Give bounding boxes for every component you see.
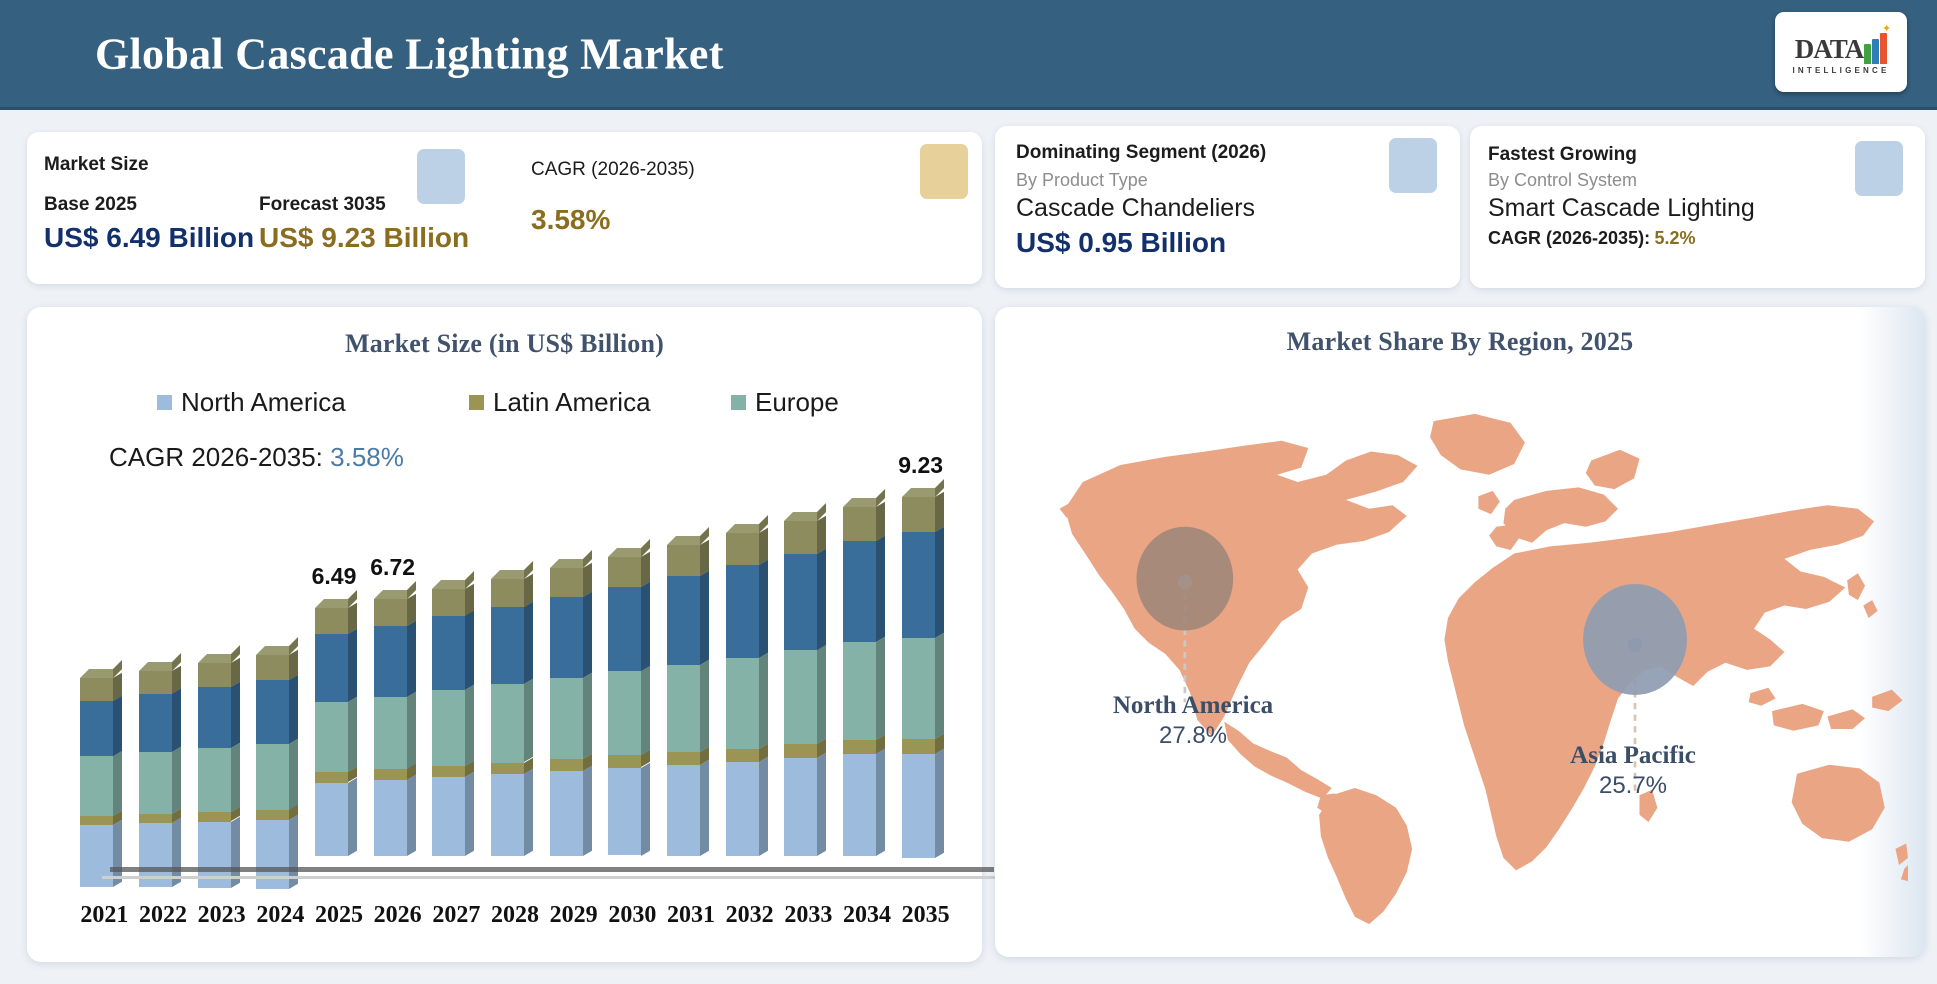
bar-segment-side (289, 675, 298, 744)
bar-column (198, 663, 231, 872)
bar-segment-side (935, 527, 944, 638)
bar-column (784, 521, 817, 872)
x-axis-label-2022: 2022 (133, 902, 193, 929)
legend-label: Latin America (493, 387, 651, 418)
x-axis-label-2032: 2032 (720, 902, 780, 929)
chart-cagr-value: 3.58% (330, 442, 404, 472)
bar-segment-side (641, 762, 650, 855)
legend-label: North America (181, 387, 346, 418)
bar-segment-latin-america (432, 766, 465, 777)
bar-segment-middle-east-africa (315, 608, 348, 634)
bar-segment-side (876, 749, 885, 856)
x-axis-label-2030: 2030 (602, 902, 662, 929)
page-title: Global Cascade Lighting Market (95, 28, 724, 79)
cagr-icon (920, 144, 968, 199)
map-title: Market Share By Region, 2025 (995, 327, 1925, 357)
bar-segment-middle-east-africa (902, 497, 935, 532)
bar-segment-asia-pacific (784, 554, 817, 651)
bar-2027[interactable] (432, 589, 473, 872)
bar-segment-asia-pacific (550, 597, 583, 678)
bar-2031[interactable] (667, 545, 708, 872)
x-axis-label-2025: 2025 (309, 902, 369, 929)
card-dominating-segment: Dominating Segment (2026) By Product Typ… (995, 126, 1460, 288)
bar-segment-side (583, 766, 592, 856)
dominating-segment-title: Dominating Segment (2026) (1016, 142, 1266, 164)
bar-segment-side (641, 666, 650, 755)
asia-pacific-label: Asia Pacific 25.7% (1513, 742, 1753, 800)
brand-logo: DATA ✦ INTELLIGENCE (1775, 12, 1907, 92)
bar-segment-latin-america (80, 816, 113, 825)
bar-segment-side (172, 689, 181, 752)
bar-segment-europe (608, 671, 641, 755)
bar-segment-side (465, 685, 474, 766)
bar-segment-latin-america (608, 755, 641, 767)
bar-2022[interactable] (139, 671, 180, 873)
bar-segment-north-america (432, 777, 465, 856)
bar-segment-asia-pacific (80, 701, 113, 757)
bar-column (432, 589, 465, 872)
map-landmasses (1060, 414, 1908, 924)
bar-segment-latin-america (667, 752, 700, 765)
chart-plot-area: 6.496.729.23 (72, 482, 952, 872)
bar-segment-europe (726, 658, 759, 749)
bar-segment-side (465, 611, 474, 690)
bar-segment-latin-america (139, 814, 172, 823)
base-year-value: US$ 6.49 Billion (44, 222, 254, 254)
card-market-size: Market Size Base 2025 US$ 6.49 Billion F… (27, 132, 982, 284)
bar-segment-asia-pacific (491, 607, 524, 684)
bar-segment-side (759, 653, 768, 749)
card-fastest-growing: Fastest Growing By Control System Smart … (1470, 126, 1925, 288)
north-america-bubble[interactable] (1137, 527, 1234, 631)
x-axis-label-2023: 2023 (192, 902, 252, 929)
fastest-growing-icon (1855, 141, 1903, 196)
bar-segment-latin-america (374, 769, 407, 780)
fastest-growing-subtitle: By Control System (1488, 170, 1637, 191)
bar-segment-side (231, 682, 240, 748)
bar-segment-side (700, 571, 709, 665)
logo-mark: DATA ✦ (1795, 30, 1888, 64)
bar-segment-side (113, 751, 122, 816)
bar-segment-asia-pacific (902, 532, 935, 638)
bar-segment-side (876, 637, 885, 740)
bar-segment-latin-america (550, 759, 583, 771)
bar-column (139, 671, 172, 873)
base-year-label: Base 2025 (44, 194, 137, 216)
bar-value-label-2035: 9.23 (876, 452, 966, 479)
bar-segment-side (231, 743, 240, 812)
x-axis-label-2035: 2035 (896, 902, 956, 929)
bar-segment-side (817, 645, 826, 744)
bar-segment-asia-pacific (198, 687, 231, 748)
world-map-svg (1013, 362, 1908, 942)
dominating-segment-icon (1389, 138, 1437, 193)
dominating-segment-name: Cascade Chandeliers (1016, 194, 1255, 223)
bar-segment-side (583, 673, 592, 759)
bar-segment-side (583, 592, 592, 678)
bar-column (843, 507, 876, 872)
bar-segment-asia-pacific (256, 680, 289, 744)
bar-segment-side (935, 492, 944, 532)
bar-segment-side (465, 772, 474, 856)
forecast-year-label: Forecast 3035 (259, 194, 386, 216)
bar-column (608, 557, 641, 872)
bar-column (667, 545, 700, 872)
legend-item-latin-america[interactable]: Latin America (469, 387, 731, 418)
bar-2033[interactable] (784, 521, 825, 872)
bar-segment-europe (139, 752, 172, 814)
bar-segment-europe (256, 744, 289, 811)
chart-axis-line (102, 876, 1002, 879)
legend-label: Europe (755, 387, 839, 418)
bar-segment-side (524, 602, 533, 684)
fastest-growing-cagr-value: 5.2% (1655, 228, 1696, 248)
bar-segment-latin-america (784, 744, 817, 758)
fastest-growing-title: Fastest Growing (1488, 144, 1637, 166)
world-map: North America 27.8% Asia Pacific 25.7% (1013, 362, 1908, 942)
legend-swatch-icon (731, 395, 746, 410)
bar-segment-side (935, 633, 944, 739)
bar-column (80, 678, 113, 872)
bar-segment-latin-america (726, 749, 759, 762)
bar-segment-side (524, 679, 533, 763)
bar-segment-middle-east-africa (667, 545, 700, 576)
bar-segment-side (759, 560, 768, 658)
bar-segment-middle-east-africa (256, 655, 289, 680)
x-axis-label-2024: 2024 (250, 902, 310, 929)
bar-segment-europe (550, 678, 583, 759)
forecast-year-value: US$ 9.23 Billion (259, 222, 469, 254)
bar-segment-europe (432, 690, 465, 766)
bar-segment-side (172, 747, 181, 814)
logo-subtitle: INTELLIGENCE (1792, 66, 1889, 75)
bar-segment-side (289, 738, 298, 810)
bar-segment-asia-pacific (374, 626, 407, 697)
logo-star-icon: ✦ (1882, 24, 1891, 35)
bar-column (315, 608, 348, 872)
bar-segment-asia-pacific (432, 616, 465, 690)
bar-segment-side (817, 753, 826, 856)
bar-2024[interactable] (256, 655, 297, 872)
bar-2035[interactable]: 9.23 (902, 497, 943, 872)
legend-swatch-icon (469, 395, 484, 410)
fastest-growing-name: Smart Cascade Lighting (1488, 194, 1755, 223)
bar-segment-asia-pacific (667, 576, 700, 665)
bar-segment-middle-east-africa (198, 663, 231, 687)
bar-segment-middle-east-africa (432, 589, 465, 617)
bar-series-container: 6.496.729.23 (72, 482, 952, 872)
bar-segment-middle-east-africa (374, 599, 407, 626)
bar-segment-north-america (667, 765, 700, 856)
bar-segment-north-america (491, 774, 524, 856)
bar-segment-middle-east-africa (550, 568, 583, 597)
bar-segment-latin-america (256, 810, 289, 820)
bar-segment-middle-east-africa (608, 557, 641, 587)
bar-segment-middle-east-africa (843, 507, 876, 541)
bar-segment-asia-pacific (608, 587, 641, 672)
bar-column (491, 579, 524, 872)
bar-segment-europe (667, 665, 700, 752)
bar-segment-side (700, 660, 709, 753)
bar-segment-asia-pacific (843, 541, 876, 642)
bar-segment-middle-east-africa (726, 533, 759, 565)
legend-item-north-america[interactable]: North America (157, 387, 469, 418)
bar-segment-europe (198, 748, 231, 812)
bar-segment-side (876, 536, 885, 642)
fastest-growing-cagr-label: CAGR (2026-2035): (1488, 228, 1650, 248)
bar-segment-north-america (726, 762, 759, 856)
bar-segment-north-america (902, 754, 935, 858)
bar-segment-latin-america (315, 772, 348, 782)
logo-word: DATA (1795, 34, 1864, 64)
dominating-segment-subtitle: By Product Type (1016, 170, 1148, 191)
market-size-icon (417, 149, 465, 204)
bar-2026[interactable]: 6.72 (374, 599, 415, 872)
fastest-growing-cagr: CAGR (2026-2035): 5.2% (1488, 228, 1696, 249)
legend-swatch-icon (157, 395, 172, 410)
bar-value-label-2026: 6.72 (348, 554, 438, 581)
x-axis-label-2026: 2026 (368, 902, 428, 929)
bar-segment-middle-east-africa (784, 521, 817, 554)
bar-segment-europe (784, 650, 817, 744)
bar-2029[interactable] (550, 568, 591, 872)
bar-segment-north-america (315, 783, 348, 856)
bar-segment-side (524, 769, 533, 856)
bar-2023[interactable] (198, 663, 239, 872)
cagr-value: 3.58% (531, 204, 610, 236)
bar-segment-latin-america (902, 739, 935, 754)
bar-segment-middle-east-africa (491, 579, 524, 607)
logo-bars-icon: ✦ (1864, 34, 1887, 64)
cagr-label: CAGR (2026-2035) (531, 159, 695, 181)
bar-segment-side (348, 697, 357, 772)
bar-segment-middle-east-africa (139, 671, 172, 695)
kpi-row: Market Size Base 2025 US$ 6.49 Billion F… (0, 118, 1937, 293)
market-share-map-panel: Market Share By Region, 2025 (995, 307, 1925, 957)
x-axis-label-2033: 2033 (778, 902, 838, 929)
bar-segment-asia-pacific (726, 565, 759, 658)
market-size-title: Market Size (44, 154, 149, 176)
market-size-chart-panel: Market Size (in US$ Billion) North Ameri… (27, 307, 982, 962)
bar-segment-side (348, 777, 357, 855)
bar-column (550, 568, 583, 872)
legend-item-europe[interactable]: Europe (731, 387, 839, 418)
bar-segment-side (759, 757, 768, 856)
bar-segment-europe (315, 702, 348, 772)
chart-title: Market Size (in US$ Billion) (27, 329, 982, 359)
x-axis-label-2034: 2034 (837, 902, 897, 929)
x-axis-label-2031: 2031 (661, 902, 721, 929)
bar-segment-side (817, 515, 826, 553)
bar-segment-europe (80, 756, 113, 816)
bar-segment-asia-pacific (139, 694, 172, 752)
x-axis-label-2027: 2027 (426, 902, 486, 929)
bar-segment-north-america (843, 754, 876, 856)
bar-segment-north-america (784, 758, 817, 856)
asia-pacific-bubble[interactable] (1583, 584, 1687, 695)
chart-x-axis-labels: 2021202220232024202520262027202820292030… (72, 902, 962, 942)
chart-axis-base (110, 867, 994, 872)
bar-2032[interactable] (726, 533, 767, 872)
x-axis-label-2029: 2029 (544, 902, 604, 929)
bar-segment-europe (374, 697, 407, 770)
bar-segment-side (641, 582, 650, 672)
bar-segment-latin-america (198, 812, 231, 821)
bar-segment-side (407, 691, 416, 769)
north-america-share: 27.8% (1073, 722, 1313, 750)
dominating-segment-value: US$ 0.95 Billion (1016, 227, 1226, 259)
chart-cagr-label: CAGR 2026-2035: (109, 442, 323, 472)
bar-segment-side (407, 775, 416, 856)
bar-segment-north-america (374, 780, 407, 856)
bar-column (726, 533, 759, 872)
asia-pacific-region-name: Asia Pacific (1513, 742, 1753, 770)
bar-segment-latin-america (491, 763, 524, 774)
bar-segment-side (407, 621, 416, 697)
x-axis-label-2028: 2028 (485, 902, 545, 929)
bar-2025[interactable]: 6.49 (315, 608, 356, 872)
bar-segment-side (935, 749, 944, 859)
bar-segment-europe (491, 684, 524, 762)
chart-cagr-note: CAGR 2026-2035: 3.58% (109, 442, 404, 473)
bar-2030[interactable] (608, 557, 649, 872)
bar-segment-side (700, 760, 709, 856)
bar-segment-europe (843, 642, 876, 740)
page-header: Global Cascade Lighting Market DATA ✦ IN… (0, 0, 1937, 110)
bar-column (374, 599, 407, 872)
bar-segment-north-america (550, 771, 583, 856)
bar-column (256, 655, 289, 872)
bar-segment-north-america (608, 768, 641, 856)
north-america-label: North America 27.8% (1073, 692, 1313, 750)
bar-segment-europe (902, 638, 935, 739)
bar-2028[interactable] (491, 579, 532, 872)
bar-segment-middle-east-africa (80, 678, 113, 701)
asia-pacific-share: 25.7% (1513, 772, 1753, 800)
bar-2034[interactable] (843, 507, 884, 872)
bar-segment-side (817, 548, 826, 650)
x-axis-label-2021: 2021 (74, 902, 134, 929)
bar-segment-latin-america (843, 740, 876, 754)
chart-legend: North AmericaLatin AmericaEurope (157, 387, 937, 418)
north-america-region-name: North America (1073, 692, 1313, 720)
bar-segment-asia-pacific (315, 634, 348, 702)
bar-column (902, 497, 935, 872)
bar-segment-side (348, 629, 357, 702)
bar-2021[interactable] (80, 678, 121, 872)
bar-segment-side (113, 695, 122, 756)
